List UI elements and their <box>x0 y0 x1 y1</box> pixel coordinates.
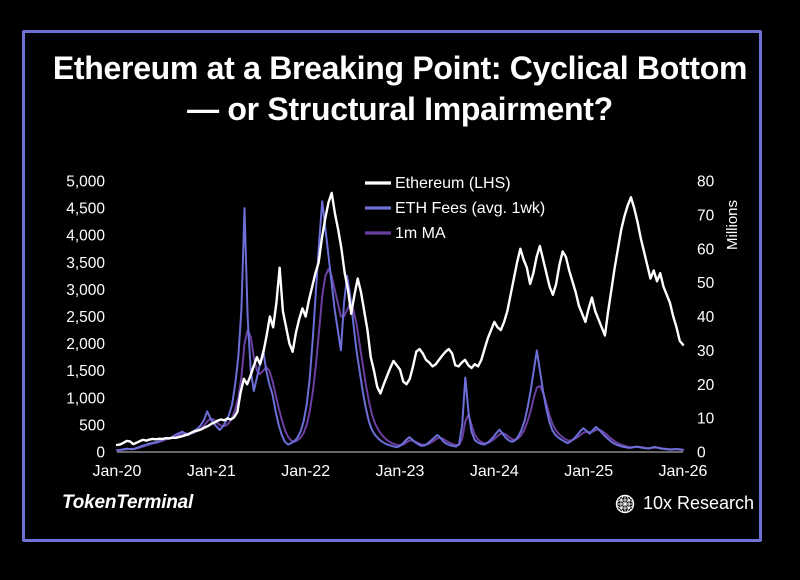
x-axis-tick: Jan-20 <box>93 463 142 480</box>
brand-attribution: 10x Research <box>615 493 754 514</box>
y-axis-left-tick: 3,500 <box>66 255 105 272</box>
x-axis-tick: Jan-25 <box>564 463 613 480</box>
source-attribution: TokenTerminal <box>62 492 193 514</box>
y-axis-left-tick: 2,500 <box>66 309 105 326</box>
chart-card: Ethereum at a Breaking Point: Cyclical B… <box>0 0 800 580</box>
x-axis-tick: Jan-21 <box>187 463 236 480</box>
y-axis-right-tick: 40 <box>697 309 715 326</box>
y-axis-right-tick: 70 <box>697 207 715 224</box>
brand-label: 10x Research <box>643 493 754 514</box>
y-axis-right-tick: 60 <box>697 241 715 258</box>
legend-label: 1m MA <box>395 225 446 242</box>
y-axis-right-tick: 0 <box>697 445 706 462</box>
x-axis-tick: Jan-23 <box>376 463 425 480</box>
y-axis-left-tick: 0 <box>96 445 105 462</box>
y-axis-right-tick: 10 <box>697 411 715 428</box>
y-axis-left-tick: 5,000 <box>66 174 105 191</box>
y-axis-right-tick: 20 <box>697 377 715 394</box>
y-axis-left-tick: 4,500 <box>66 201 105 218</box>
legend-label: Ethereum (LHS) <box>395 175 511 192</box>
y-axis-right-tick: 80 <box>697 174 715 191</box>
legend-label: ETH Fees (avg. 1wk) <box>395 200 545 217</box>
x-axis-tick: Jan-26 <box>659 463 708 480</box>
y-axis-left-tick: 4,000 <box>66 228 105 245</box>
y-axis-right-tick: 50 <box>697 275 715 292</box>
y-axis-left-tick: 3,000 <box>66 282 105 299</box>
x-axis-tick: Jan-24 <box>470 463 519 480</box>
y-axis-left-tick: 500 <box>79 417 105 434</box>
y-axis-left-tick: 1,000 <box>66 390 105 407</box>
x-axis-tick: Jan-22 <box>281 463 330 480</box>
y-axis-right-title: Millions <box>724 200 741 250</box>
y-axis-right-tick: 30 <box>697 343 715 360</box>
y-axis-left-tick: 2,000 <box>66 336 105 353</box>
globe-grid-icon <box>615 494 635 514</box>
y-axis-left-tick: 1,500 <box>66 363 105 380</box>
